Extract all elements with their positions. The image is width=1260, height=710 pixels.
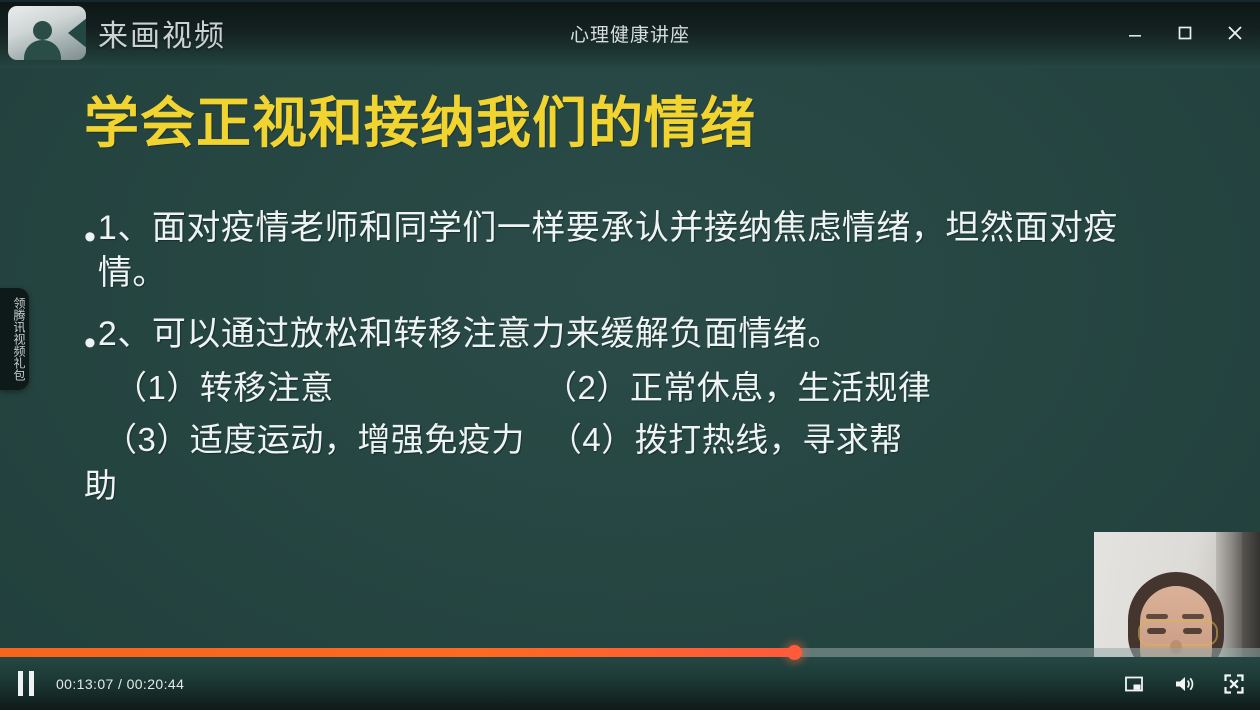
controls-background bbox=[0, 657, 1260, 710]
sub-item-2: （2）正常休息，生活规律 bbox=[544, 366, 931, 410]
fullscreen-icon[interactable] bbox=[1222, 672, 1246, 696]
bullet-marker: • bbox=[84, 326, 96, 360]
progress-bar-fill bbox=[0, 648, 794, 657]
title-bar-hairline bbox=[0, 0, 1260, 2]
bullet-marker: • bbox=[84, 220, 96, 254]
bullet-item: • 1、面对疫情老师和同学们一样要承认并接纳焦虑情绪，坦然面对疫情。 bbox=[84, 206, 1184, 296]
sub-item-4: （4）拨打热线，寻求帮 bbox=[549, 421, 903, 458]
sub-item-3: （3）适度运动，增强免疫力 bbox=[104, 421, 525, 458]
camera-notch bbox=[68, 17, 86, 49]
window-controls bbox=[1120, 18, 1250, 48]
controls-right-group bbox=[1122, 657, 1246, 710]
sub-item-row-2: （3）适度运动，增强免疫力（4）拨打热线，寻求帮 bbox=[84, 418, 1184, 462]
slide-title: 学会正视和接纳我们的情绪 bbox=[84, 78, 756, 158]
sidebar-tab-gift[interactable]: 领腾讯视频礼包 bbox=[0, 288, 29, 390]
maximize-button[interactable] bbox=[1170, 18, 1200, 48]
player-controls: 00:13:07 / 00:20:44 bbox=[0, 648, 1260, 710]
sub-item-row: （1）转移注意 （2）正常休息，生活规律 bbox=[84, 366, 1184, 410]
progress-bar-track[interactable] bbox=[0, 648, 1260, 657]
picture-in-picture-icon[interactable] bbox=[1122, 672, 1146, 696]
bullet-text: 1、面对疫情老师和同学们一样要承认并接纳焦虑情绪，坦然面对疫情。 bbox=[98, 206, 1184, 296]
bullet-item: • 2、可以通过放松和转移注意力来缓解负面情绪。 bbox=[84, 312, 1184, 360]
slide-body: • 1、面对疫情老师和同学们一样要承认并接纳焦虑情绪，坦然面对疫情。 • 2、可… bbox=[84, 206, 1184, 508]
title-bar: 来画视频 心理健康讲座 bbox=[0, 0, 1260, 68]
pause-icon[interactable] bbox=[18, 671, 34, 696]
app-name-label: 来画视频 bbox=[98, 11, 226, 55]
volume-icon[interactable] bbox=[1172, 672, 1196, 696]
sub-item-1: （1）转移注意 bbox=[114, 366, 544, 410]
person-head-shape bbox=[33, 21, 52, 40]
bullet-text: 2、可以通过放松和转移注意力来缓解负面情绪。 bbox=[98, 312, 842, 357]
app-logo[interactable]: 来画视频 bbox=[8, 6, 226, 60]
pause-bar-left bbox=[18, 671, 23, 696]
close-button[interactable] bbox=[1220, 18, 1250, 48]
progress-bar-handle[interactable] bbox=[787, 645, 802, 660]
person-body-shape bbox=[24, 40, 61, 60]
video-player-window: 学会正视和接纳我们的情绪 • 1、面对疫情老师和同学们一样要承认并接纳焦虑情绪，… bbox=[0, 0, 1260, 710]
pause-bar-right bbox=[29, 671, 34, 696]
controls-left-group: 00:13:07 / 00:20:44 bbox=[18, 657, 184, 710]
time-display: 00:13:07 / 00:20:44 bbox=[56, 676, 184, 692]
minimize-button[interactable] bbox=[1120, 18, 1150, 48]
video-camera-person-icon bbox=[8, 6, 86, 60]
sub-item-4-wrap: 助 bbox=[84, 464, 1184, 508]
